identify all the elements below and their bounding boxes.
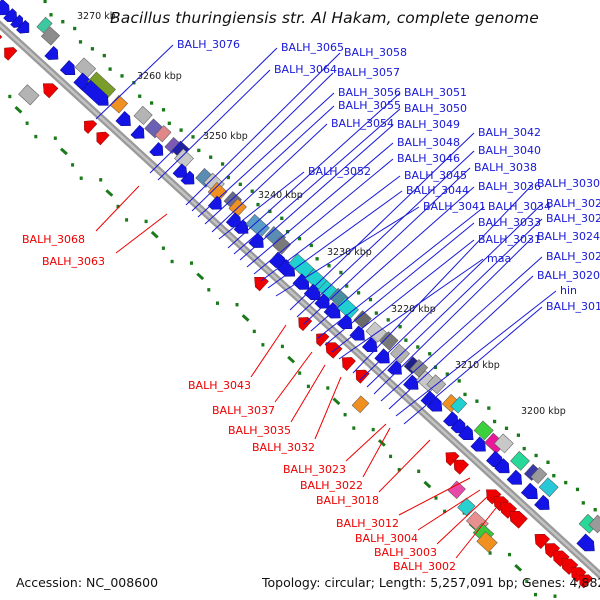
gene-feature[interactable] — [352, 366, 370, 384]
gene-label-balh_3037[interactable]: BALH_3037 — [212, 404, 275, 417]
tick-mark — [171, 260, 174, 263]
tick-mark — [49, 13, 52, 16]
tick-mark — [151, 231, 159, 239]
gene-feature[interactable] — [539, 478, 558, 497]
tick-mark — [280, 217, 283, 220]
tick-mark — [554, 595, 557, 598]
gene-feature[interactable] — [0, 43, 17, 60]
tick-mark — [508, 553, 511, 556]
tick-mark — [316, 257, 319, 260]
tick-mark — [344, 413, 347, 416]
tick-mark — [423, 481, 431, 489]
tick-mark — [162, 247, 165, 250]
gene-label-balh_3023[interactable]: BALH_3023 — [283, 463, 346, 476]
gene-label-balh_3046[interactable]: BALH_3046 — [397, 152, 460, 165]
tick-mark — [79, 40, 82, 43]
tick-mark — [54, 137, 57, 140]
leader-line — [158, 70, 270, 180]
tick-mark — [493, 420, 496, 423]
tick-mark — [416, 345, 419, 348]
gene-feature[interactable] — [60, 60, 79, 79]
gene-label-balh_3022[interactable]: BALH_3022 — [300, 479, 363, 492]
gene-label-balh_3050[interactable]: BALH_3050 — [404, 102, 467, 115]
gene-label-maa[interactable]: maa — [487, 252, 511, 265]
tick-mark — [287, 356, 295, 364]
leader-line — [116, 214, 167, 253]
tick-mark — [332, 397, 340, 405]
scale-label: 3210 kbp — [455, 360, 500, 371]
tick-mark — [168, 122, 171, 125]
tick-mark — [196, 273, 204, 281]
tick-mark — [145, 220, 148, 223]
gene-feature[interactable] — [134, 106, 152, 124]
tick-mark — [387, 318, 390, 321]
leader-line — [150, 48, 277, 173]
gene-feature[interactable] — [448, 481, 466, 499]
gene-feature[interactable] — [390, 344, 409, 363]
gene-label-balh_3018[interactable]: BALH_3018 — [316, 494, 379, 507]
tick-mark — [207, 288, 210, 291]
tick-mark — [281, 345, 284, 348]
tick-mark — [197, 149, 200, 152]
gene-feature[interactable] — [110, 95, 128, 113]
tick-mark — [236, 303, 239, 306]
tick-mark — [80, 177, 83, 180]
leader-line — [318, 207, 484, 338]
tick-mark — [594, 508, 597, 511]
leader-line — [275, 352, 312, 402]
gene-label-balh_3004[interactable]: BALH_3004 — [355, 532, 418, 545]
tick-mark — [404, 339, 407, 342]
tick-mark — [60, 148, 68, 156]
tick-mark — [517, 434, 520, 437]
leader-line — [251, 325, 286, 377]
tick-mark — [428, 352, 431, 355]
gene-label-balh_3003[interactable]: BALH_3003 — [374, 546, 437, 559]
tick-mark — [103, 54, 106, 57]
gene-feature[interactable] — [80, 116, 97, 133]
tick-mark — [417, 470, 420, 473]
tick-mark — [105, 189, 113, 197]
tick-mark — [458, 379, 461, 382]
tick-mark — [514, 564, 522, 572]
scale-label: 3240 kbp — [258, 190, 303, 201]
tick-mark — [180, 128, 183, 131]
gene-label-balh_3055[interactable]: BALH_3055 — [338, 99, 401, 112]
genome-map-canvas[interactable] — [0, 0, 600, 600]
page-title: Bacillus thuringiensis str. Al Hakam, co… — [110, 9, 539, 27]
tick-mark — [375, 311, 378, 314]
scale-label: 3250 kbp — [203, 131, 248, 142]
gene-feature[interactable] — [507, 470, 526, 489]
gene-label-balh_3049[interactable]: BALH_3049 — [397, 118, 460, 131]
gene-label-balh_3052[interactable]: BALH_3052 — [308, 165, 371, 178]
tick-mark — [14, 106, 22, 114]
tick-mark — [463, 393, 466, 396]
gene-label-balh_3036[interactable]: BALH_3036 — [478, 180, 541, 193]
tick-mark — [535, 454, 538, 457]
leader-line — [381, 257, 542, 401]
gene-label-balh_3034[interactable]: BALH_3034 — [488, 200, 551, 213]
gene-label-balh_3020[interactable]: BALH_3020 — [537, 269, 600, 282]
tick-mark — [253, 330, 256, 333]
gene-label-balh_3065[interactable]: BALH_3065 — [281, 41, 344, 54]
gene-label-balh_3035[interactable]: BALH_3035 — [228, 424, 291, 437]
gene-label-balh_3048[interactable]: BALH_3048 — [397, 136, 460, 149]
gene-feature[interactable] — [338, 353, 356, 371]
tick-mark — [162, 108, 165, 111]
gene-feature[interactable] — [375, 349, 394, 368]
tick-mark — [372, 428, 375, 431]
gene-label-balh_3024[interactable]: BALH_3024 — [537, 230, 600, 243]
tick-mark — [326, 386, 329, 389]
tick-mark — [339, 271, 342, 274]
gene-feature[interactable] — [116, 111, 135, 130]
gene-label-balh_3042[interactable]: BALH_3042 — [478, 126, 541, 139]
gene-label-balh_3045[interactable]: BALH_3045 — [404, 169, 467, 182]
tick-mark — [91, 47, 94, 50]
tick-mark — [369, 298, 372, 301]
gene-label-balh_3063[interactable]: BALH_3063 — [42, 255, 105, 268]
tick-mark — [564, 481, 567, 484]
tick-mark — [298, 371, 301, 374]
gene-label-balh_3041[interactable]: BALH_3041 — [423, 200, 486, 213]
tick-mark — [209, 156, 212, 159]
tick-mark — [389, 455, 392, 458]
gene-label-balh_3031[interactable]: BALH_3031 — [478, 233, 541, 246]
tick-mark — [8, 95, 11, 98]
tick-mark — [99, 178, 102, 181]
leader-line — [379, 440, 430, 492]
tick-mark — [150, 101, 153, 104]
gene-feature[interactable] — [19, 85, 40, 105]
gene-feature[interactable] — [388, 361, 406, 379]
tick-mark — [239, 183, 242, 186]
gene-label-balh_3043[interactable]: BALH_3043 — [188, 379, 251, 392]
gene-label-balh_3076[interactable]: BALH_3076 — [177, 38, 240, 51]
reverse-strand-track — [0, 27, 593, 588]
tick-mark — [357, 291, 360, 294]
scale-label: 3220 kbp — [391, 304, 436, 315]
gene-feature[interactable] — [352, 396, 369, 413]
tick-mark — [191, 135, 194, 138]
gene-feature[interactable] — [45, 46, 63, 64]
genome-map-viewer: 3270 kb Bacillus thuringiensis str. Al H… — [0, 0, 600, 600]
scale-label: 3230 kbp — [327, 247, 372, 258]
tick-mark — [216, 302, 219, 305]
tick-mark — [352, 426, 355, 429]
gene-label-balh_3056[interactable]: BALH_3056 — [338, 86, 401, 99]
tick-mark — [534, 593, 537, 596]
gene-label-balh_3002[interactable]: BALH_3002 — [393, 560, 456, 573]
scale-label: 3200 kbp — [521, 406, 566, 417]
tick-mark — [221, 162, 224, 165]
tick-mark — [61, 20, 64, 23]
tick-mark — [26, 122, 29, 125]
tick-mark — [73, 27, 76, 30]
gene-label-balh_3044[interactable]: BALH_3044 — [406, 184, 469, 197]
gene-label-hin[interactable]: hin — [560, 284, 577, 297]
gene-feature[interactable] — [39, 79, 58, 98]
tick-mark — [125, 218, 128, 221]
leader-line — [234, 109, 400, 254]
gene-label-balh_3028[interactable]: BALH_3028 — [546, 197, 600, 210]
gene-label-balh_3051[interactable]: BALH_3051 — [404, 86, 467, 99]
gene-label-balh_3038[interactable]: BALH_3038 — [474, 161, 537, 174]
tick-mark — [505, 427, 508, 430]
tick-mark — [109, 67, 112, 70]
tick-mark — [582, 501, 585, 504]
tick-mark — [251, 190, 254, 193]
gene-feature[interactable] — [294, 313, 312, 331]
tick-mark — [327, 264, 330, 267]
tick-mark — [44, 0, 47, 3]
gene-label-balh_3025[interactable]: BALH_3025 — [546, 212, 600, 225]
tick-mark — [487, 406, 490, 409]
gene-label-balh_3054[interactable]: BALH_3054 — [331, 117, 394, 130]
accession-text: Accession: NC_008600 — [16, 575, 158, 590]
tick-mark — [138, 95, 141, 98]
leader-line — [360, 204, 542, 380]
gene-label-balh_3021[interactable]: BALH_3021 — [546, 250, 600, 263]
gene-label-balh_3057[interactable]: BALH_3057 — [337, 66, 400, 79]
tick-mark — [523, 447, 526, 450]
gene-label-balh_3040[interactable]: BALH_3040 — [478, 144, 541, 157]
leader-line — [389, 276, 533, 409]
tick-mark — [546, 461, 549, 464]
leader-line — [96, 186, 139, 231]
gene-feature[interactable] — [75, 58, 96, 78]
genome-summary-text: Topology: circular; Length: 5,257,091 bp… — [262, 575, 600, 590]
leader-line — [268, 191, 402, 288]
gene-label-balh_3068[interactable]: BALH_3068 — [22, 233, 85, 246]
tick-mark — [475, 400, 478, 403]
gene-feature[interactable] — [250, 273, 268, 291]
gene-feature[interactable] — [510, 451, 529, 470]
gene-label-balh_3064[interactable]: BALH_3064 — [274, 63, 337, 76]
tick-mark — [399, 325, 402, 328]
tick-mark — [120, 74, 123, 77]
tick-mark — [242, 314, 250, 322]
tick-mark — [71, 163, 74, 166]
tick-mark — [256, 203, 259, 206]
scale-label: 3260 kbp — [137, 71, 182, 82]
gene-label-balh_3030[interactable]: BALH_3030 — [537, 177, 600, 190]
gene-label-balh_3032[interactable]: BALH_3032 — [252, 441, 315, 454]
gene-label-balh_3058[interactable]: BALH_3058 — [344, 46, 407, 59]
tick-mark — [552, 474, 555, 477]
leader-line — [363, 428, 390, 477]
tick-mark — [190, 261, 193, 264]
gene-label-balh_3012[interactable]: BALH_3012 — [336, 517, 399, 530]
gene-feature[interactable] — [150, 142, 168, 160]
gene-label-balh_3033[interactable]: BALH_3033 — [478, 216, 541, 229]
tick-mark — [261, 343, 264, 346]
tick-mark — [34, 135, 37, 138]
gene-label-balh_3016[interactable]: BALH_3016 — [546, 300, 600, 313]
tick-mark — [307, 385, 310, 388]
gene-feature[interactable] — [458, 498, 476, 516]
tick-mark — [576, 488, 579, 491]
gene-feature[interactable] — [92, 128, 109, 145]
